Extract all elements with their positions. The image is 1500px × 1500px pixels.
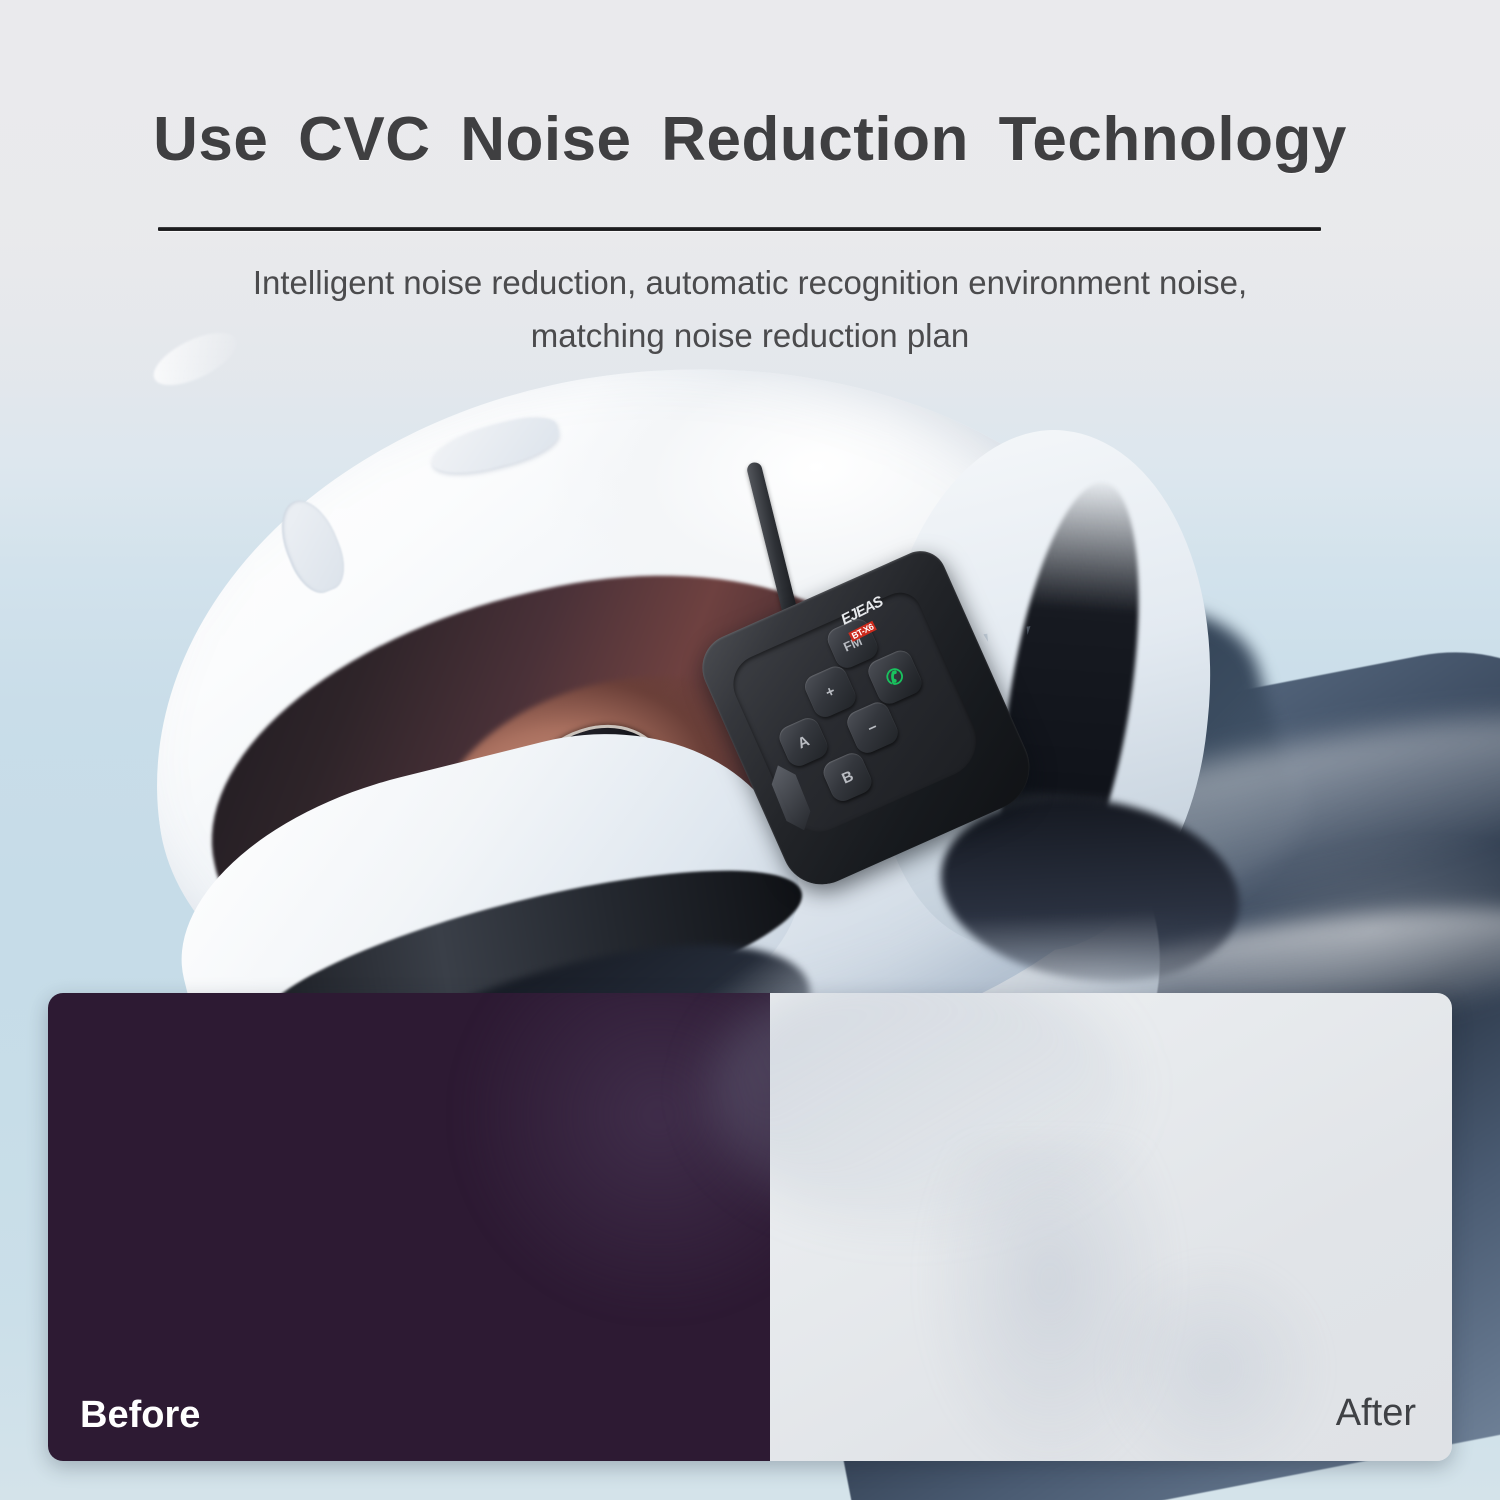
- phone-icon: ✆: [883, 664, 908, 690]
- helmet-gloss: [146, 330, 244, 396]
- page-title: Use CVC Noise Reduction Technology: [0, 104, 1500, 175]
- header-divider: [158, 227, 1321, 231]
- after-panel: After: [770, 993, 1452, 1461]
- before-waveform: [48, 993, 770, 1461]
- after-label: After: [1336, 1392, 1416, 1435]
- before-label: Before: [80, 1394, 200, 1437]
- after-waveform-svg: [770, 993, 1452, 1461]
- subtitle-line-1: Intelligent noise reduction, automatic r…: [150, 256, 1350, 309]
- before-after-comparison: Before: [48, 993, 1452, 1461]
- after-waveform: [770, 993, 1452, 1461]
- before-waveform-svg: [48, 993, 770, 1461]
- product-marketing-image: Use CVC Noise Reduction Technology Intel…: [0, 0, 1500, 1500]
- before-panel: Before: [48, 993, 770, 1461]
